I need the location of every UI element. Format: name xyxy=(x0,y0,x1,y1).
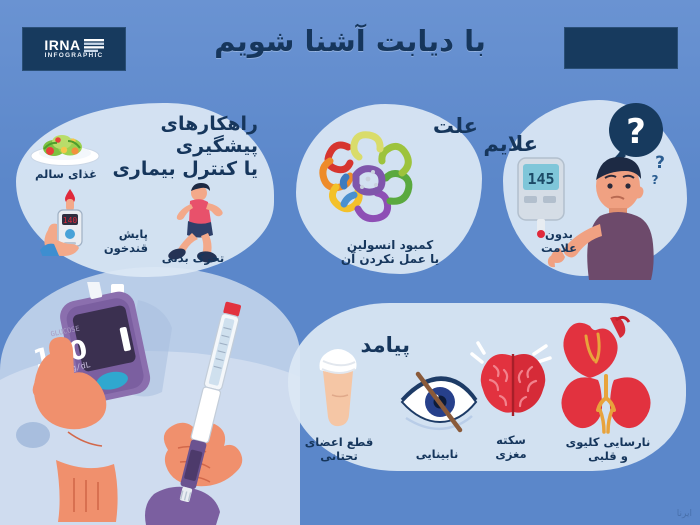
cause-illustration xyxy=(310,125,430,239)
svg-text:140: 140 xyxy=(63,216,78,225)
insulin-protein-icon xyxy=(310,125,430,235)
symptoms-caption: بدون علامت xyxy=(524,228,594,256)
consequence-caption-amputation: قطع اعضای تحتانی xyxy=(292,436,386,464)
prevention-caption-glucose-monitoring: پایش قندخون xyxy=(92,228,148,256)
salad-plate-icon xyxy=(28,120,102,168)
heart-kidney-icon xyxy=(556,310,660,438)
prevention-item-glucose-monitoring: 140 xyxy=(38,186,100,260)
consequence-caption-organ-failure: نارسایی کلیوی و قلبی xyxy=(548,436,668,464)
amputated-limb-icon xyxy=(310,333,366,433)
confused-person-icon: 145 xyxy=(510,150,688,280)
main-illustration: GLUCOSE 140 mg/dL xyxy=(8,282,298,525)
cause-caption: کمبود انسولین یا عمل نکردن آن xyxy=(304,238,476,267)
prevention-item-healthy-food xyxy=(28,120,102,172)
hands-glucometer-pen-illustration: GLUCOSE 140 mg/dL xyxy=(8,282,298,525)
consequence-caption-stroke: سکته مغزی xyxy=(478,434,544,462)
consequence-item-amputation xyxy=(310,333,366,437)
cause-heading: علت xyxy=(433,114,478,139)
infographic-canvas: IRNA INFOGRAPHIC با دیابت آشنا شویم راهک… xyxy=(0,0,700,525)
svg-text:145: 145 xyxy=(527,170,554,188)
consequence-caption-blindness: نابینایی xyxy=(392,448,482,462)
watermark: ایرنا xyxy=(677,509,692,519)
prevention-caption-physical-activity: تحرک بدنی xyxy=(150,252,236,266)
consequence-heading: پیامد xyxy=(361,333,410,358)
svg-text:?: ? xyxy=(626,112,646,152)
page-title: با دیابت آشنا شویم xyxy=(0,24,700,58)
prevention-caption-healthy-food: غذای سالم xyxy=(24,168,108,182)
brain-stroke-icon xyxy=(470,340,556,432)
symptoms-illustration: 145 xyxy=(510,150,688,284)
glucometer-hand-icon: 140 xyxy=(38,186,100,256)
consequence-item-stroke xyxy=(470,340,556,436)
consequence-item-organ-failure xyxy=(556,310,660,442)
backdrop-dot xyxy=(16,422,50,448)
